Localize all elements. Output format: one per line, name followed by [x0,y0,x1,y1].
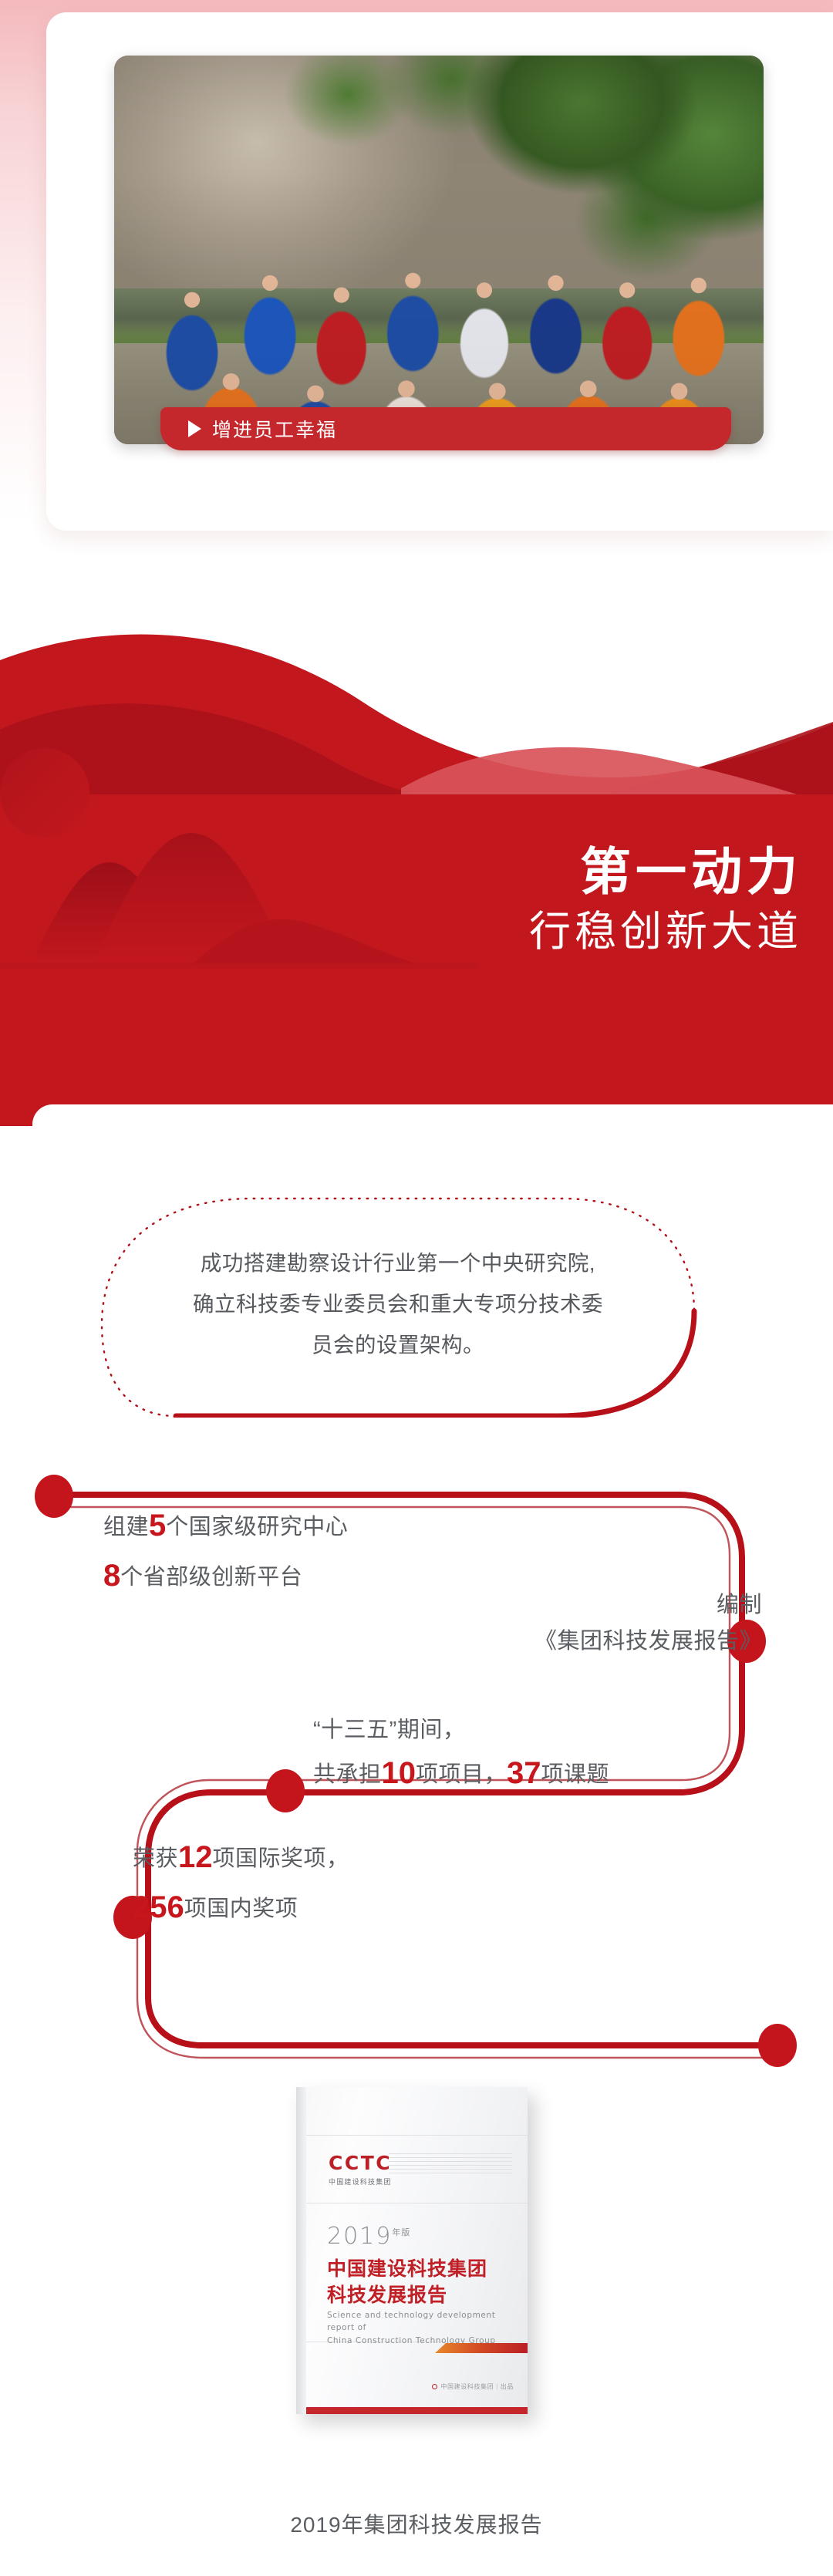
quote-text: 成功搭建勘察设计行业第一个中央研究院, 确立科技委专业委员会和重大专项分技术委 … [136,1243,660,1365]
book-accent-swoosh [435,2343,528,2353]
book-caption: 2019年集团科技发展报告 [0,2508,833,2539]
metric-value-topics: 37 [507,1756,541,1790]
book-logo-rules [389,2153,512,2173]
book-title-line-1: 中国建设科技集团 [327,2254,487,2281]
photo-caption-label: 增进员工幸福 [212,415,337,443]
book-title-line-2: 科技发展报告 [327,2280,447,2308]
book-rule [306,2203,528,2203]
metric-value-intl-awards: 12 [178,1840,213,1874]
top-photo-section: 增进员工幸福 [0,0,833,609]
photo-vignette [114,56,764,444]
timeline-line-2: 256项国内奖项 [133,1883,349,1933]
quote-line-1: 成功搭建勘察设计行业第一个中央研究院, [201,1251,595,1275]
book-footer-logo-text: 中国建设科技集团｜出品 [440,2382,514,2391]
quote-line-3: 员会的设置架构。 [312,1333,484,1357]
book-bottom-bar [306,2407,528,2414]
book-english-subtitle: Science and technology development repor… [327,2309,508,2347]
metric-value-research-centers: 5 [149,1509,166,1543]
timeline-item-awards: 荣获12项国际奖项， 256项国内奖项 [133,1833,349,1933]
timeline-line-2: 8个省部级创新平台 [103,1551,348,1601]
red-banner-section: 第一动力 行稳创新大道 [0,586,833,1126]
photo-caption-bar: 增进员工幸福 [160,407,731,450]
achievements-timeline: 组建5个国家级研究中心 8个省部级创新平台 编制 《集团科技发展报告》 “十三五… [0,1458,833,2067]
timeline-item-research-centers: 组建5个国家级研究中心 8个省部级创新平台 [103,1501,348,1601]
timeline-line-2: 《集团科技发展报告》 [535,1623,762,1660]
metric-value-platforms: 8 [103,1559,120,1593]
timeline-item-projects: “十三五”期间， 共承担10项项目，37项课题 [313,1712,609,1799]
book-cover: CCTC 中国建设科技集团 2019年版 中国建设科技集团 科技发展报告 Sci… [296,2087,528,2414]
book-year-suffix: 年版 [392,2227,410,2237]
book-footer-dot-icon [432,2384,437,2389]
metric-value-projects: 10 [382,1756,416,1790]
timeline-line-1: 编制 [535,1587,762,1623]
timeline-line-2: 共承担10项项目，37项课题 [313,1748,609,1799]
timeline-line-1: 荣获12项国际奖项， [133,1833,349,1883]
team-photo [114,56,764,444]
quote-callout: 成功搭建勘察设计行业第一个中央研究院, 确立科技委专业委员会和重大专项分技术委 … [99,1195,697,1418]
photo-card: 增进员工幸福 [46,12,833,531]
metric-value-domestic-awards: 256 [133,1890,184,1924]
quote-line-2: 确立科技委专业委员会和重大专项分技术委 [193,1292,603,1316]
page-subtitle: 行稳创新大道 [247,906,802,959]
cctc-logo: CCTC 中国建设科技集团 [329,2152,392,2187]
book-year: 2019年版 [327,2223,410,2250]
book-footer-logo: 中国建设科技集团｜出品 [432,2382,514,2391]
page-title: 第一动力 [247,844,802,900]
cctc-logo-latin: CCTC [329,2152,392,2174]
timeline-line-1: 组建5个国家级研究中心 [103,1501,348,1551]
report-book-image: CCTC 中国建设科技集团 2019年版 中国建设科技集团 科技发展报告 Sci… [268,2073,565,2436]
cctc-logo-chinese: 中国建设科技集团 [329,2176,392,2187]
book-rule [306,2135,528,2136]
book-spine [296,2087,306,2414]
banner-title-block: 第一动力 行稳创新大道 [247,844,802,958]
timeline-line-1: “十三五”期间， [313,1712,609,1748]
book-english-line-1: Science and technology development repor… [327,2311,495,2332]
play-triangle-icon [188,420,201,437]
timeline-item-report: 编制 《集团科技发展报告》 [535,1587,762,1660]
